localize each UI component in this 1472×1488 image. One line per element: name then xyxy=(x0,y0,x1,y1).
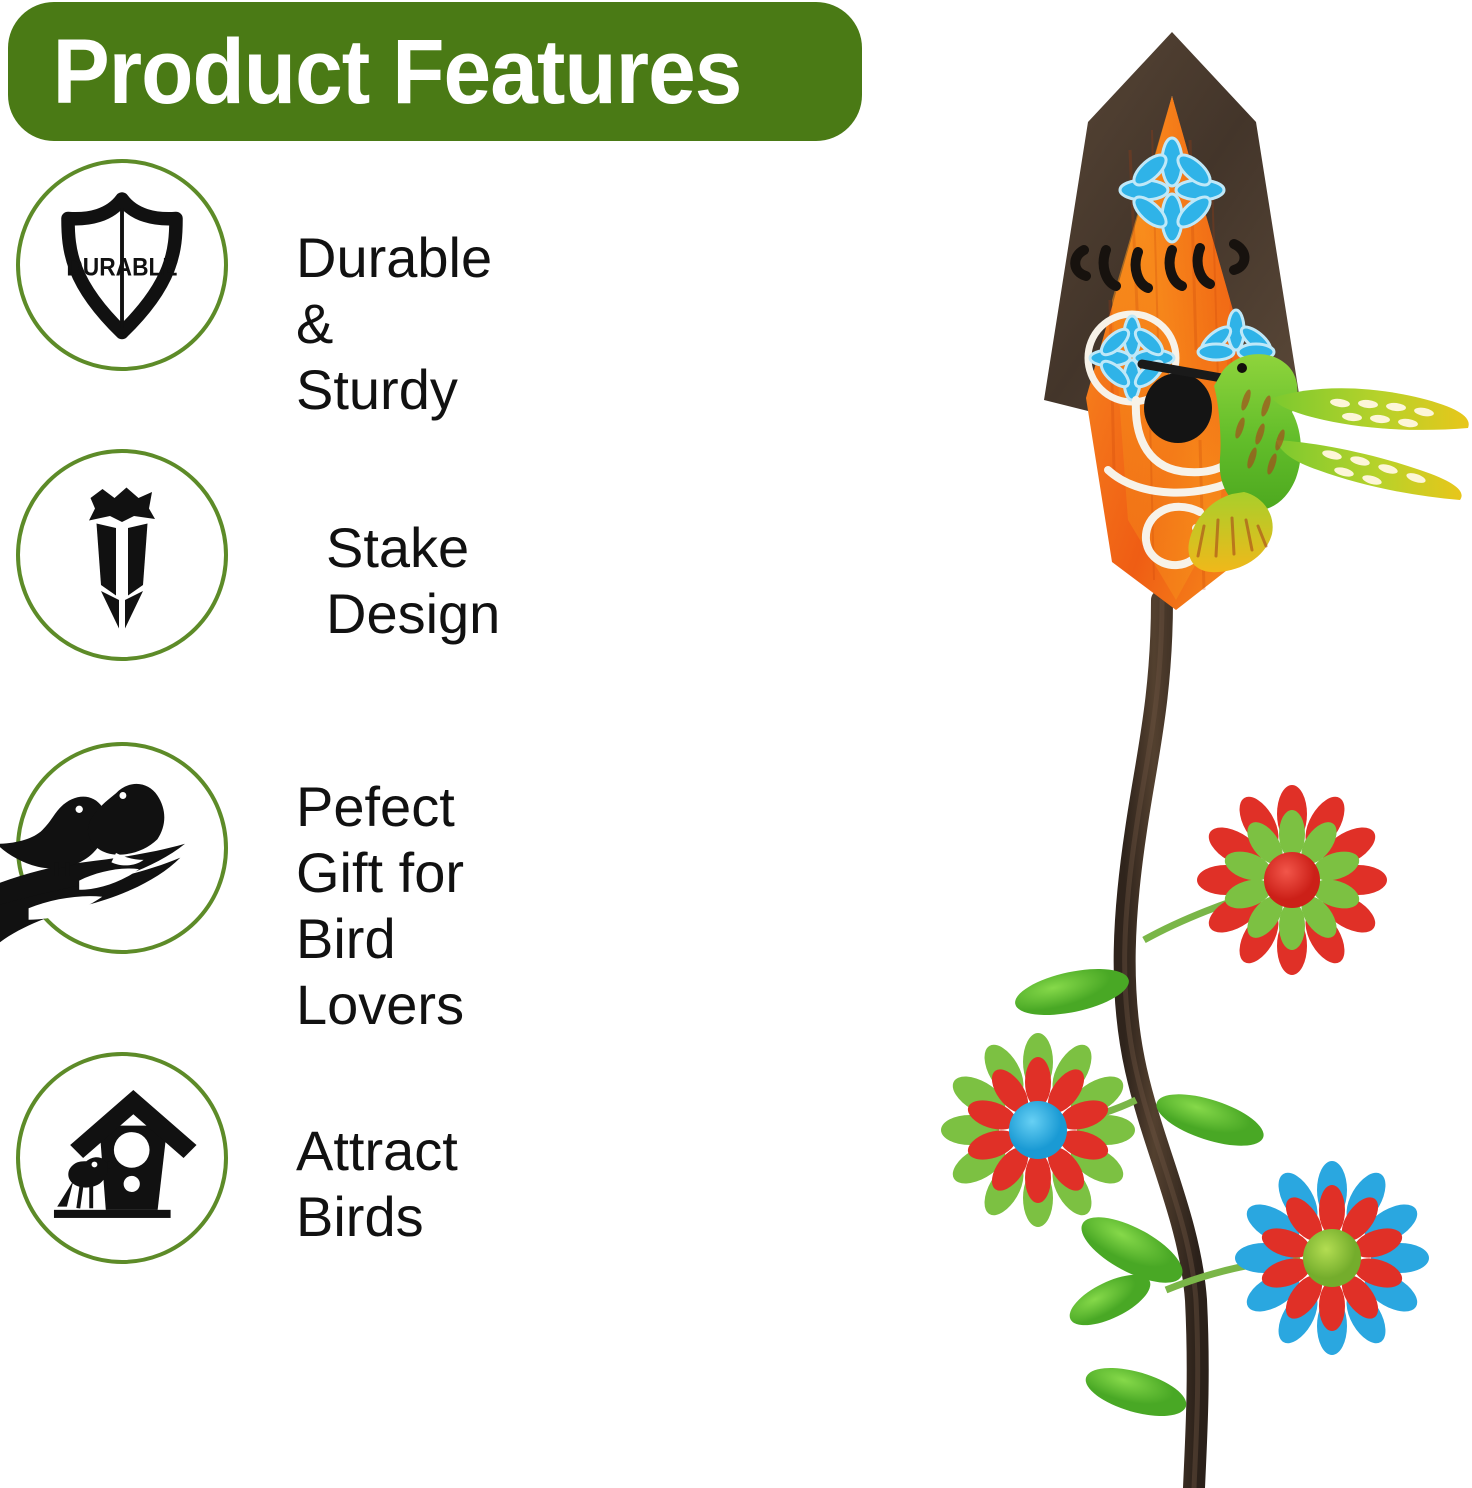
shield-icon-text: DURABLE xyxy=(66,254,177,282)
metal-flower-middle-left xyxy=(941,1033,1135,1227)
flower-center xyxy=(1264,852,1320,908)
page-title: Product Features xyxy=(8,26,741,118)
feature-icon-circle xyxy=(16,449,228,661)
feature-icon-circle xyxy=(16,1052,228,1264)
two-birds-on-branch-icon xyxy=(0,738,208,968)
hummingbird-wing-lower xyxy=(1276,440,1462,500)
feature-icon-circle xyxy=(16,742,228,954)
birdhouse-stake-illustration xyxy=(900,0,1472,1488)
feature-label-attract: Attract Birds xyxy=(296,1118,458,1250)
metal-flower-lower-right xyxy=(1235,1161,1429,1355)
flower-center xyxy=(1303,1229,1361,1287)
feature-label-stake: Stake Design xyxy=(326,515,500,647)
infographic-canvas: Product Features DURABLE Durable & Sturd… xyxy=(0,0,1472,1488)
ground-stake-icon xyxy=(47,480,197,630)
product-features-banner: Product Features xyxy=(8,2,862,141)
product-image xyxy=(900,0,1472,1488)
feature-label-durable: Durable & Sturdy xyxy=(296,225,492,423)
entrance-hole xyxy=(1144,373,1212,443)
feature-label-gift: Pefect Gift for Bird Lovers xyxy=(296,774,464,1038)
hummingbird-wing-upper xyxy=(1272,388,1469,430)
feature-icon-circle: DURABLE xyxy=(16,159,228,371)
shield-durable-icon: DURABLE xyxy=(47,190,197,340)
birdhouse-with-bird-icon xyxy=(41,1077,203,1239)
metal-flower-upper-right xyxy=(1197,785,1387,975)
stake-pole xyxy=(1125,600,1198,1488)
leaf xyxy=(1081,1358,1192,1425)
hummingbird-eye xyxy=(1237,363,1247,373)
flower-center xyxy=(1009,1101,1067,1159)
